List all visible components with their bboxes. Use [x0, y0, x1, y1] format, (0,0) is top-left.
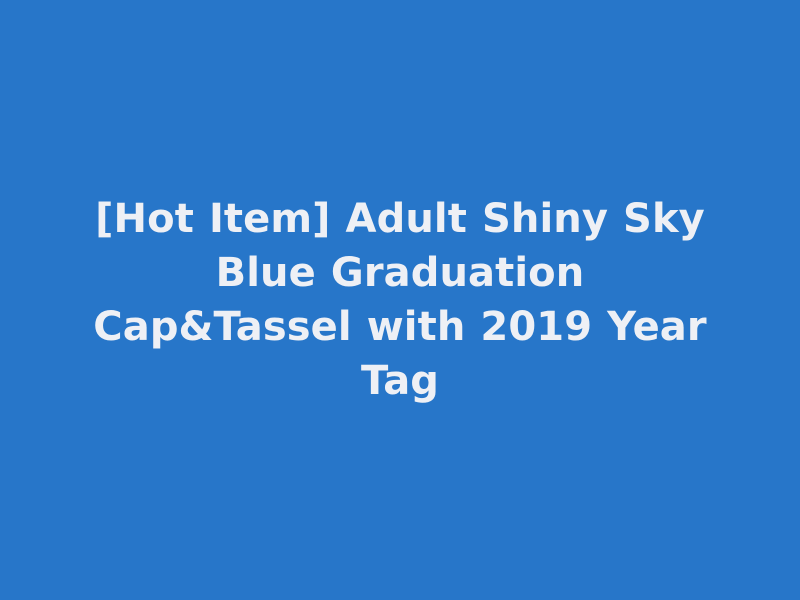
product-title-banner: [Hot Item] Adult Shiny Sky Blue Graduati… [0, 0, 800, 600]
page-title: [Hot Item] Adult Shiny Sky Blue Graduati… [90, 192, 710, 408]
title-block: [Hot Item] Adult Shiny Sky Blue Graduati… [90, 192, 710, 408]
